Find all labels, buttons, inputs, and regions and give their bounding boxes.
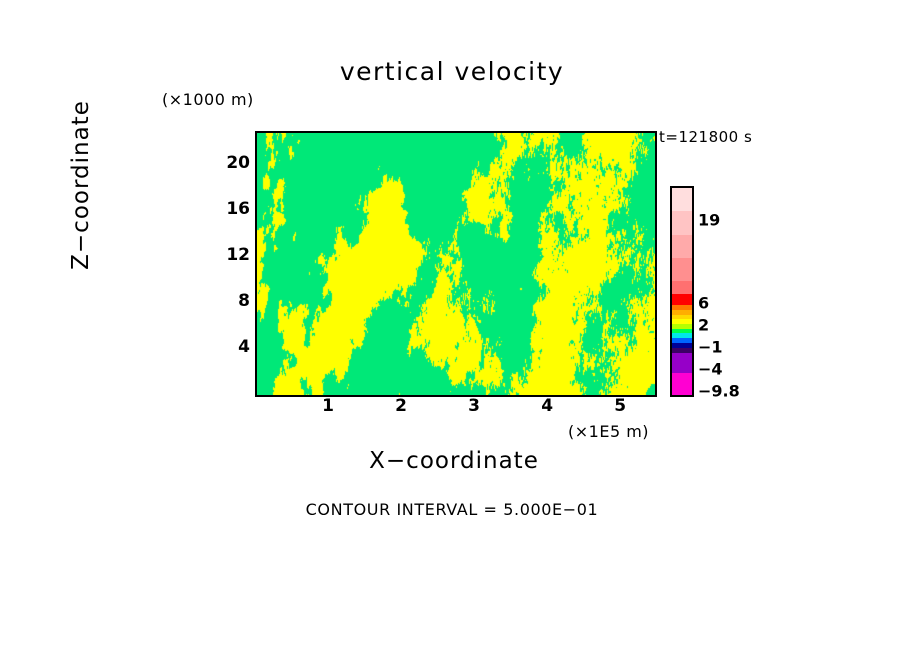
colorbar-band bbox=[672, 258, 692, 281]
y-tick-label: 8 bbox=[210, 291, 250, 311]
colorbar-tick-label: 6 bbox=[698, 294, 709, 313]
x-tick-label: 3 bbox=[456, 396, 492, 416]
x-tick-label: 2 bbox=[383, 396, 419, 416]
colorbar-band bbox=[672, 373, 692, 395]
colorbar-band bbox=[672, 353, 692, 373]
colorbar-band bbox=[672, 294, 692, 305]
colorbar bbox=[670, 186, 694, 397]
x-tick-label: 4 bbox=[529, 396, 565, 416]
y-tick-label: 16 bbox=[210, 199, 250, 219]
contour-plot-figure: vertical velocity (×1000 m) t=121800 s Z… bbox=[0, 0, 904, 654]
contour-field-canvas bbox=[257, 133, 655, 395]
plot-area bbox=[255, 131, 657, 397]
colorbar-band bbox=[672, 281, 692, 294]
page-title: vertical velocity bbox=[0, 57, 904, 86]
timestamp-label: t=121800 s bbox=[659, 128, 752, 146]
y-axis-ticks: 48121620 bbox=[208, 131, 250, 393]
colorbar-tick-label: 19 bbox=[698, 211, 720, 230]
colorbar-tick-label: −4 bbox=[698, 360, 723, 379]
y-tick-label: 4 bbox=[210, 337, 250, 357]
y-axis-title: Z−coordinate bbox=[68, 75, 98, 295]
colorbar-labels: 1962−1−4−9.8 bbox=[694, 186, 784, 393]
colorbar-band bbox=[672, 188, 692, 211]
y-tick-label: 20 bbox=[210, 153, 250, 173]
z-axis-units-label: (×1000 m) bbox=[162, 90, 254, 109]
colorbar-band bbox=[672, 235, 692, 258]
x-axis-ticks: 12345 bbox=[255, 396, 653, 422]
colorbar-band bbox=[672, 211, 692, 234]
colorbar-tick-label: −1 bbox=[698, 338, 723, 357]
colorbar-tick-label: −9.8 bbox=[698, 382, 740, 401]
contour-interval-note: CONTOUR INTERVAL = 5.000E−01 bbox=[0, 500, 904, 519]
x-tick-label: 5 bbox=[602, 396, 638, 416]
x-tick-label: 1 bbox=[310, 396, 346, 416]
x-axis-title: X−coordinate bbox=[255, 448, 653, 474]
colorbar-tick-label: 2 bbox=[698, 316, 709, 335]
x-axis-units-label: (×1E5 m) bbox=[568, 422, 649, 441]
y-tick-label: 12 bbox=[210, 245, 250, 265]
